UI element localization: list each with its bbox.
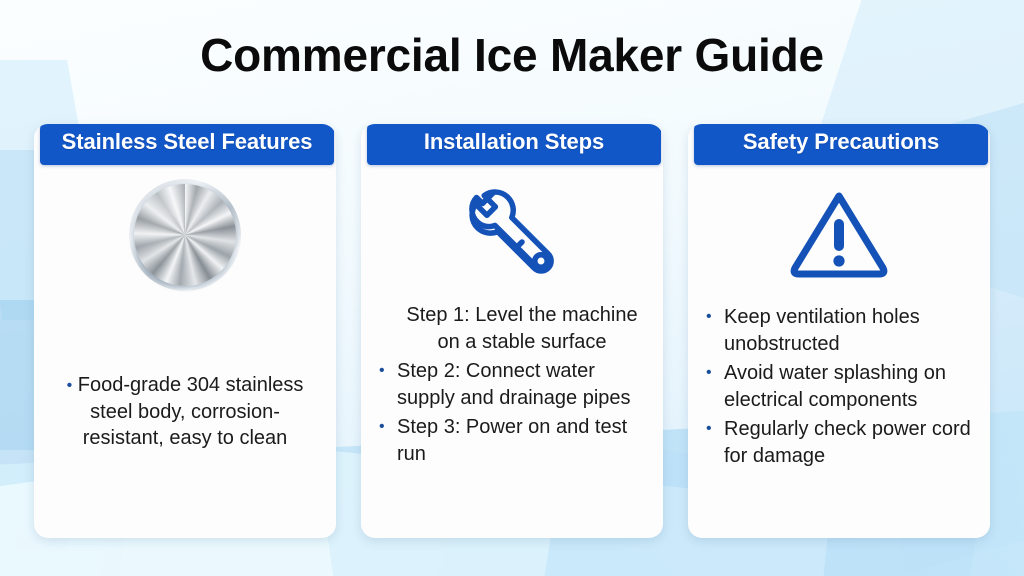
card-icon-container [688, 180, 990, 290]
card-body-text: Step 1: Level the machine on a stable su… [377, 302, 647, 471]
card-header-bar: Safety Precautions [694, 124, 988, 165]
card-installation-steps: Installation Steps Step 1: Level the mac… [361, 124, 663, 538]
card-header-title: Installation Steps [424, 129, 604, 155]
brushed-steel-disc-icon [134, 184, 236, 286]
bullet-marker: • [706, 360, 712, 386]
list-item-text: Step 3: Power on and test run [397, 416, 627, 465]
list-item-text: Food-grade 304 stainless steel body, cor… [78, 374, 304, 449]
card-icon-container [361, 180, 663, 290]
bullet-marker: • [379, 414, 385, 440]
bullet-list: • Keep ventilation holes unobstructed • … [704, 304, 974, 470]
bullet-marker: • [379, 358, 385, 384]
bullet-list: • Food-grade 304 stainless steel body, c… [50, 372, 320, 452]
list-item-text: Keep ventilation holes unobstructed [724, 306, 920, 355]
list-item: • Step 2: Connect water supply and drain… [377, 358, 647, 411]
exclamation-bar [834, 219, 844, 251]
list-item: • Keep ventilation holes unobstructed [704, 304, 974, 357]
bullet-marker: • [67, 377, 73, 394]
slide-title: Commercial Ice Maker Guide [0, 28, 1024, 82]
card-safety-precautions: Safety Precautions • Keep ventilation ho… [688, 124, 990, 538]
card-header-title: Stainless Steel Features [62, 129, 313, 155]
list-item: • Regularly check power cord for damage [704, 416, 974, 469]
card-body-text: • Keep ventilation holes unobstructed • … [704, 304, 974, 473]
list-item-text: Regularly check power cord for damage [724, 418, 971, 467]
list-item: • Avoid water splashing on electrical co… [704, 360, 974, 413]
list-item-text: Step 1: Level the machine on a stable su… [406, 304, 637, 353]
list-item: • Step 3: Power on and test run [377, 414, 647, 467]
slide-canvas: Commercial Ice Maker Guide Stainless Ste… [0, 0, 1024, 576]
wrench-icon [460, 185, 564, 285]
warning-triangle-icon [786, 187, 892, 283]
card-stainless-steel-features: Stainless Steel Features • Food-grade 30… [34, 124, 336, 538]
list-item-text: Avoid water splashing on electrical comp… [724, 362, 946, 411]
card-icon-container [34, 180, 336, 290]
card-header-title: Safety Precautions [743, 129, 939, 155]
card-header-bar: Stainless Steel Features [40, 124, 334, 165]
card-header-bar: Installation Steps [367, 124, 661, 165]
bullet-list: Step 1: Level the machine on a stable su… [377, 302, 647, 468]
bullet-marker: • [706, 304, 712, 330]
list-item-text: Step 2: Connect water supply and drainag… [397, 360, 631, 409]
list-item: Step 1: Level the machine on a stable su… [377, 302, 647, 355]
list-item: • Food-grade 304 stainless steel body, c… [50, 372, 320, 452]
exclamation-dot [833, 255, 844, 266]
bullet-marker: • [706, 416, 712, 442]
card-body-text: • Food-grade 304 stainless steel body, c… [50, 372, 320, 455]
